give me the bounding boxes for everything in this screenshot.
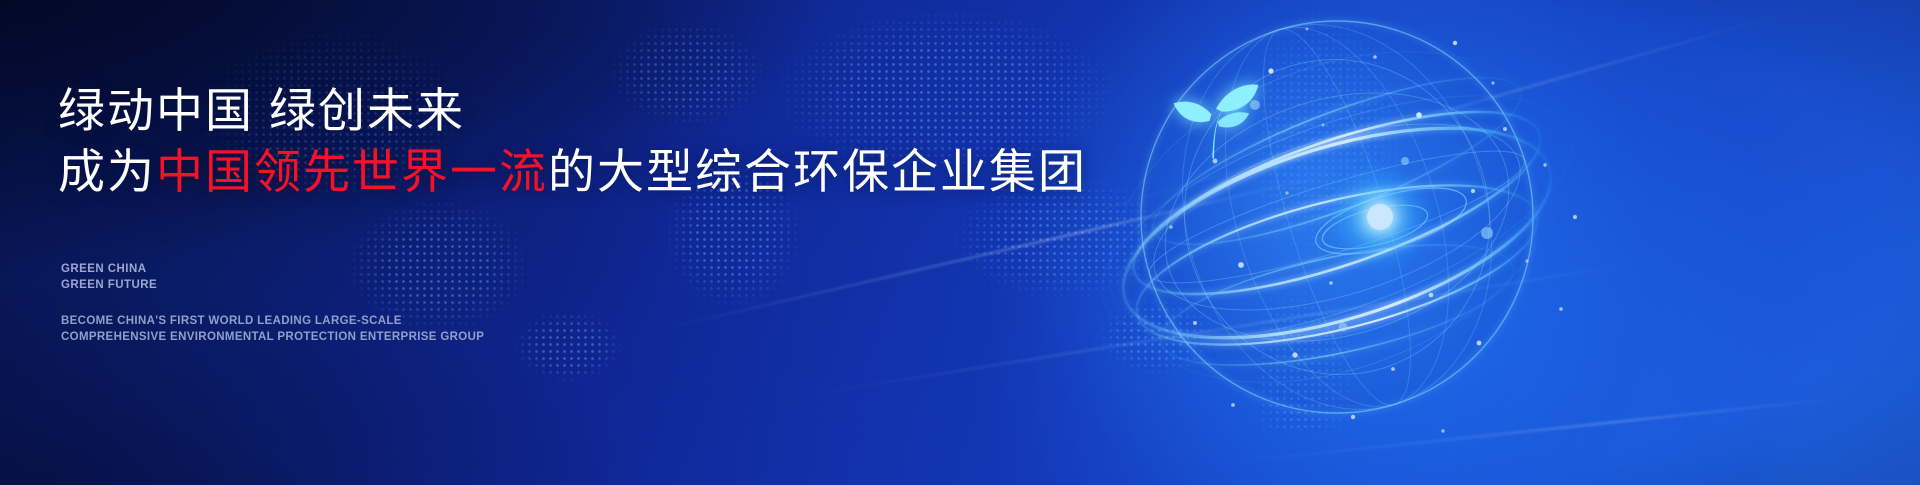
description-line-2: COMPREHENSIVE ENVIRONMENTAL PROTECTION E… <box>61 329 484 345</box>
headline-line-2: 成为中国领先世界一流的大型综合环保企业集团 <box>58 141 1087 202</box>
headline-line-2-prefix: 成为 <box>58 145 156 198</box>
description-line-1: BECOME CHINA'S FIRST WORLD LEADING LARGE… <box>61 313 484 329</box>
headline-line-1: 绿动中国 绿创未来 <box>58 80 1087 141</box>
subtitle-line-1: GREEN CHINA <box>61 261 157 277</box>
headline-line-2-suffix: 的大型综合环保企业集团 <box>548 145 1087 198</box>
vignette-overlay <box>0 0 1920 485</box>
hero-banner: 绿动中国 绿创未来 成为中国领先世界一流的大型综合环保企业集团 GREEN CH… <box>0 0 1920 485</box>
subtitle-line-2: GREEN FUTURE <box>61 277 157 293</box>
headline-block: 绿动中国 绿创未来 成为中国领先世界一流的大型综合环保企业集团 <box>58 80 1087 202</box>
description-english: BECOME CHINA'S FIRST WORLD LEADING LARGE… <box>61 313 484 346</box>
headline-line-2-highlight: 中国领先世界一流 <box>156 145 548 198</box>
subtitle-english: GREEN CHINA GREEN FUTURE <box>61 261 157 294</box>
